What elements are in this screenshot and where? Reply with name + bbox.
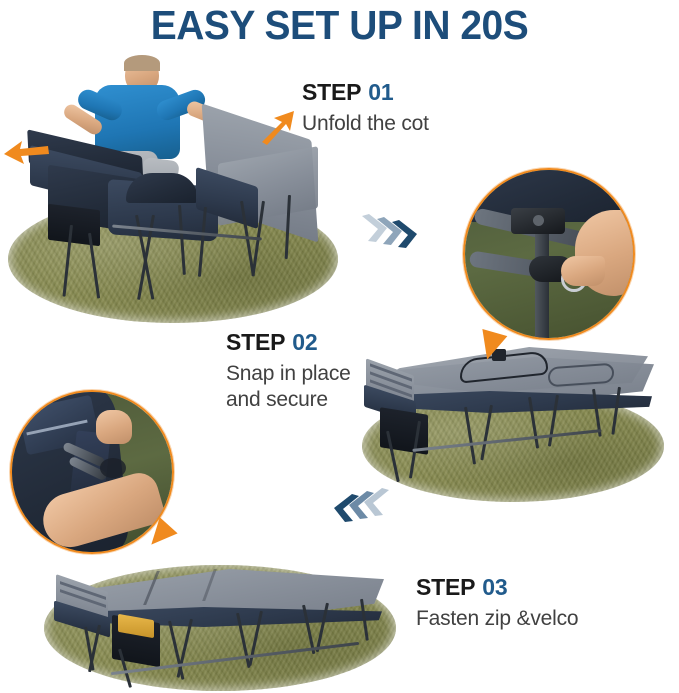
page-title: EASY SET UP IN 20S: [17, 2, 662, 49]
orange-arrow-left: [2, 140, 50, 170]
step-2-heading: STEP02: [226, 330, 351, 355]
step-2-description: Snap in place and secure: [226, 361, 351, 412]
photo-step-3-assembled-cot: [40, 555, 400, 693]
step-1-description: Unfold the cot: [302, 111, 429, 137]
step-3-heading: STEP03: [416, 575, 578, 600]
infographic-page: EASY SET UP IN 20S: [0, 0, 679, 693]
step-1-label: STEP: [302, 79, 361, 105]
chevrons-right-down-icon: [362, 208, 426, 259]
step-3-text-block: STEP03 Fasten zip &velco: [416, 575, 578, 632]
step-3-number: 03: [482, 574, 507, 600]
inset-photo-frame-lock-closeup: [463, 168, 635, 340]
photo-step-1-unfold-cot: [0, 55, 330, 305]
step-1-number: 01: [368, 79, 393, 105]
photo-step-2-snap-in-place: [352, 335, 672, 500]
step-3-description: Fasten zip &velco: [416, 606, 578, 632]
step-1-heading: STEP01: [302, 80, 429, 105]
chevrons-left-down-icon: [330, 488, 394, 539]
step-2-label: STEP: [226, 329, 285, 355]
step-2-number: 02: [292, 329, 317, 355]
orange-arrow-up-right: [258, 108, 298, 146]
step-2-text-block: STEP02 Snap in place and secure: [226, 330, 351, 413]
step-3-label: STEP: [416, 574, 475, 600]
step-1-text-block: STEP01 Unfold the cot: [302, 80, 429, 137]
